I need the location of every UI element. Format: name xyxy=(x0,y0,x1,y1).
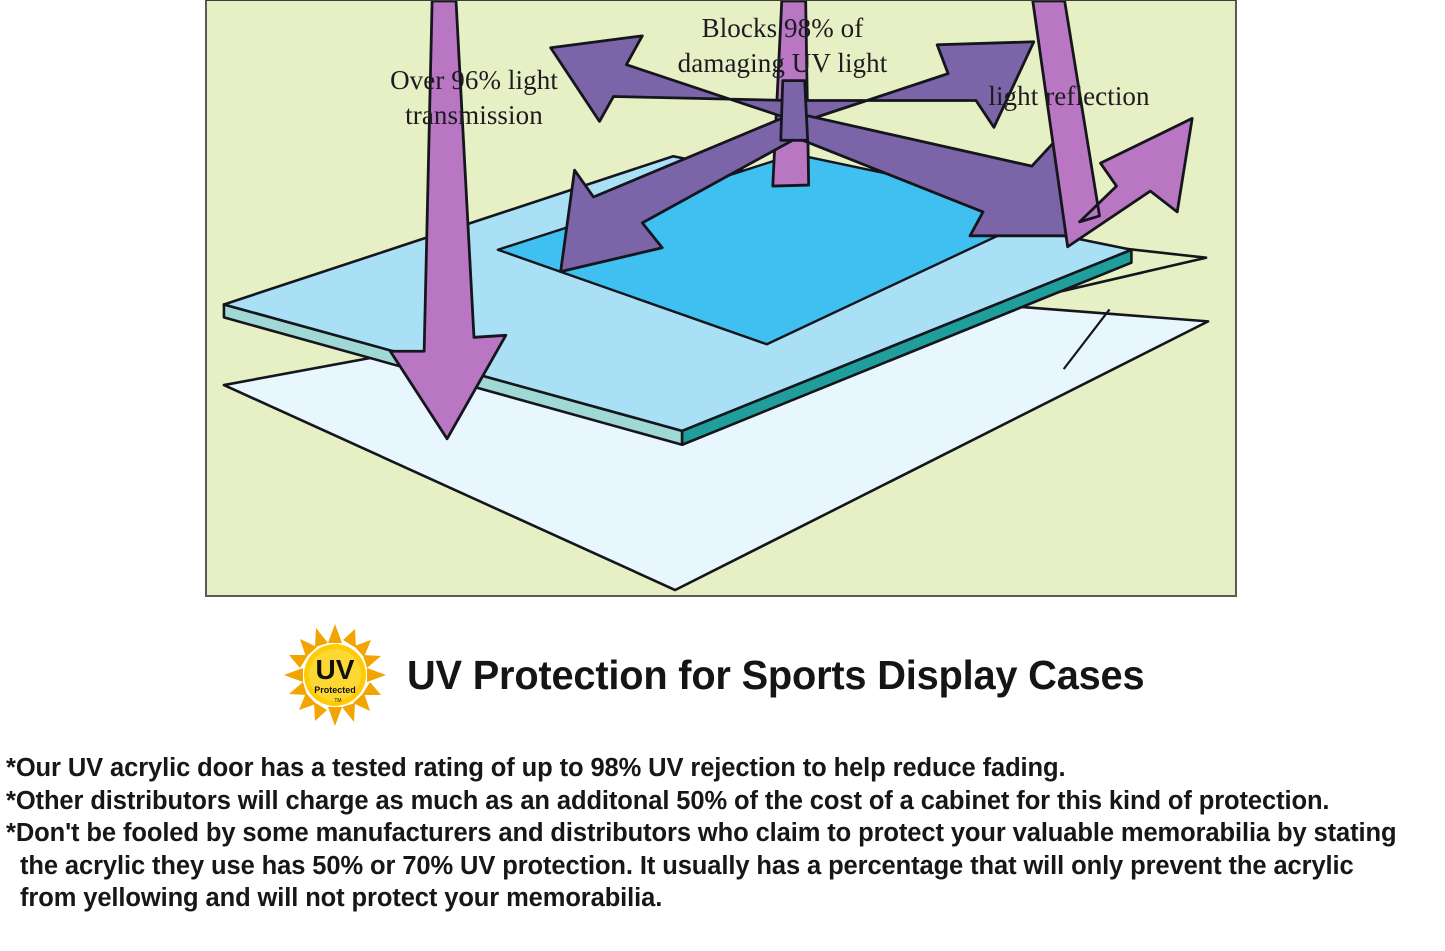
uv-diagram-panel: Over 96% light transmission Blocks 98% o… xyxy=(205,0,1237,597)
uv-protected-sun-badge: UV Protected TM xyxy=(283,623,387,727)
body-copy: *Our UV acrylic door has a tested rating… xyxy=(6,752,1441,915)
uv-scatter-hub-stem xyxy=(781,81,808,141)
body-line-5: from yellowing and will not protect your… xyxy=(6,882,1441,915)
callout-uv-block: Blocks 98% of damaging UV light xyxy=(645,11,920,80)
callout-light-reflection: light reflection xyxy=(949,79,1189,114)
sun-badge-graphic: UV Protected TM xyxy=(283,623,387,727)
title-row: UV Protected TM UV Protection for Sports… xyxy=(283,619,1167,731)
body-line-4: the acrylic they use has 50% or 70% UV p… xyxy=(6,850,1441,883)
body-line-1: *Our UV acrylic door has a tested rating… xyxy=(6,752,1441,785)
page-title: UV Protection for Sports Display Cases xyxy=(407,652,1144,699)
callout-light-transmission: Over 96% light transmission xyxy=(349,63,599,132)
badge-protected-text: Protected xyxy=(314,685,356,695)
badge-uv-text: UV xyxy=(316,654,355,685)
body-line-3: *Don't be fooled by some manufacturers a… xyxy=(6,817,1441,850)
body-line-2: *Other distributors will charge as much … xyxy=(6,785,1441,818)
badge-trademark-text: TM xyxy=(334,698,341,704)
